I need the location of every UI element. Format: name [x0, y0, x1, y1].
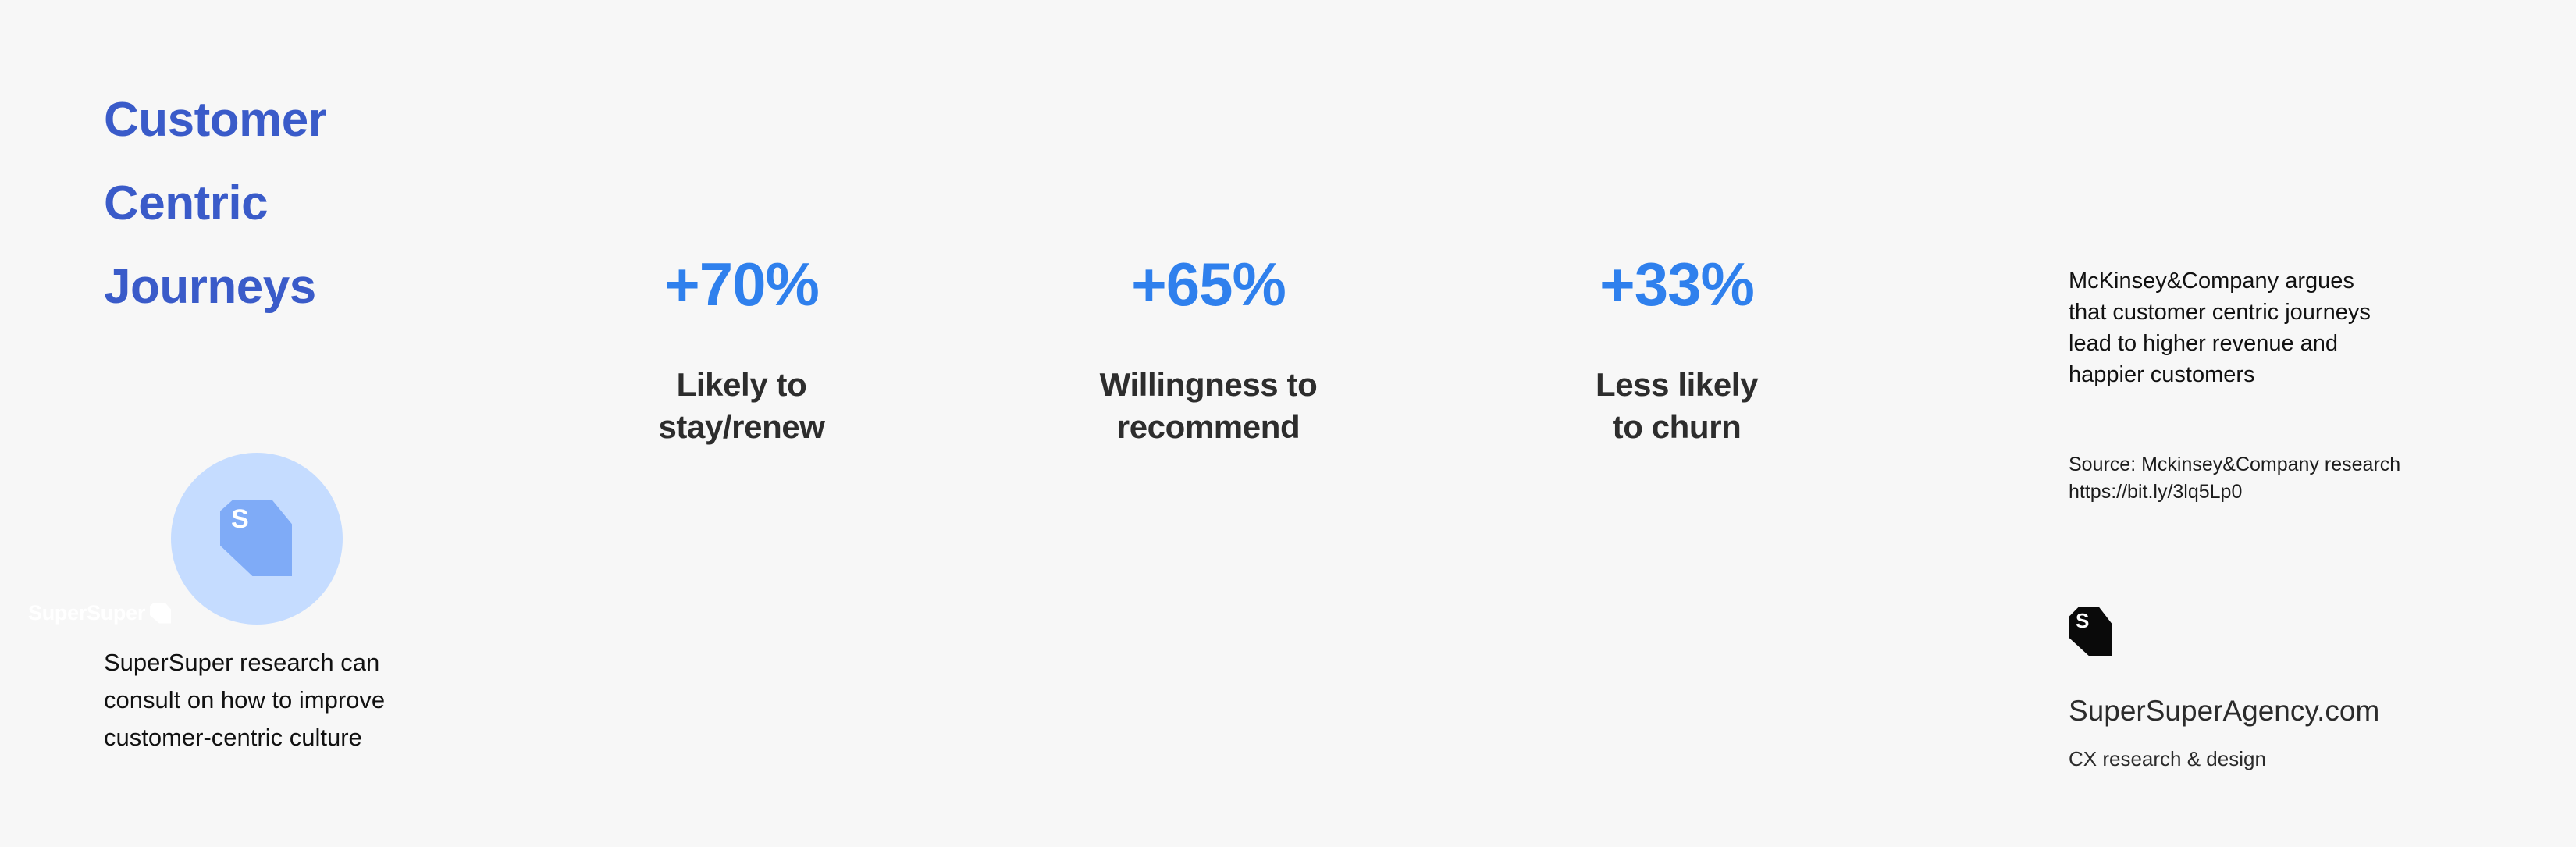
- brand-logo-circle: S: [171, 453, 343, 625]
- stat-label-line-2: to churn: [1474, 406, 1880, 448]
- watermark: SuperSuper: [28, 601, 171, 625]
- tag-icon-letter: S: [231, 506, 249, 532]
- brand-tag-icon: S: [2069, 607, 2112, 656]
- source-citation: Source: Mckinsey&Company research https:…: [2069, 451, 2537, 506]
- stat-label-line-2: stay/renew: [539, 406, 945, 448]
- infographic-canvas: Customer Centric Journeys S SuperSuper S…: [0, 0, 2576, 847]
- stat-label: Likely to stay/renew: [539, 364, 945, 448]
- page-title-line-2: Centric: [104, 162, 541, 245]
- stat-label-line-1: Likely to: [539, 364, 945, 406]
- tag-icon: S: [220, 500, 292, 576]
- watermark-tag-icon: [150, 603, 171, 624]
- brand-website[interactable]: SuperSuperAgency.com: [2069, 693, 2379, 729]
- stat-value: +33%: [1474, 248, 1880, 320]
- stat-card-recommend: +65% Willingness to recommend: [1005, 248, 1411, 448]
- stat-label-line-2: recommend: [1005, 406, 1411, 448]
- stat-value: +70%: [539, 248, 945, 320]
- stat-label: Less likely to churn: [1474, 364, 1880, 448]
- page-title-line-3: Journeys: [104, 245, 541, 329]
- source-line: Source: Mckinsey&Company research: [2069, 451, 2537, 479]
- research-note: McKinsey&Company argues that customer ce…: [2069, 265, 2396, 390]
- left-caption-line-3: customer-centric culture: [104, 719, 510, 756]
- page-title-line-1: Customer: [104, 78, 541, 162]
- brand-tagline: CX research & design: [2069, 746, 2266, 772]
- source-url[interactable]: https://bit.ly/3lq5Lp0: [2069, 479, 2537, 506]
- stat-label: Willingness to recommend: [1005, 364, 1411, 448]
- stat-value: +65%: [1005, 248, 1411, 320]
- page-title: Customer Centric Journeys: [104, 78, 541, 329]
- stat-card-churn: +33% Less likely to churn: [1474, 248, 1880, 448]
- brand-tag-letter: S: [2076, 610, 2089, 631]
- stat-card-stay-renew: +70% Likely to stay/renew: [539, 248, 945, 448]
- left-caption: SuperSuper research can consult on how t…: [104, 644, 510, 756]
- stat-label-line-1: Willingness to: [1005, 364, 1411, 406]
- left-caption-line-1: SuperSuper research can: [104, 644, 510, 682]
- stat-label-line-1: Less likely: [1474, 364, 1880, 406]
- left-caption-line-2: consult on how to improve: [104, 682, 510, 719]
- watermark-label: SuperSuper: [28, 601, 145, 625]
